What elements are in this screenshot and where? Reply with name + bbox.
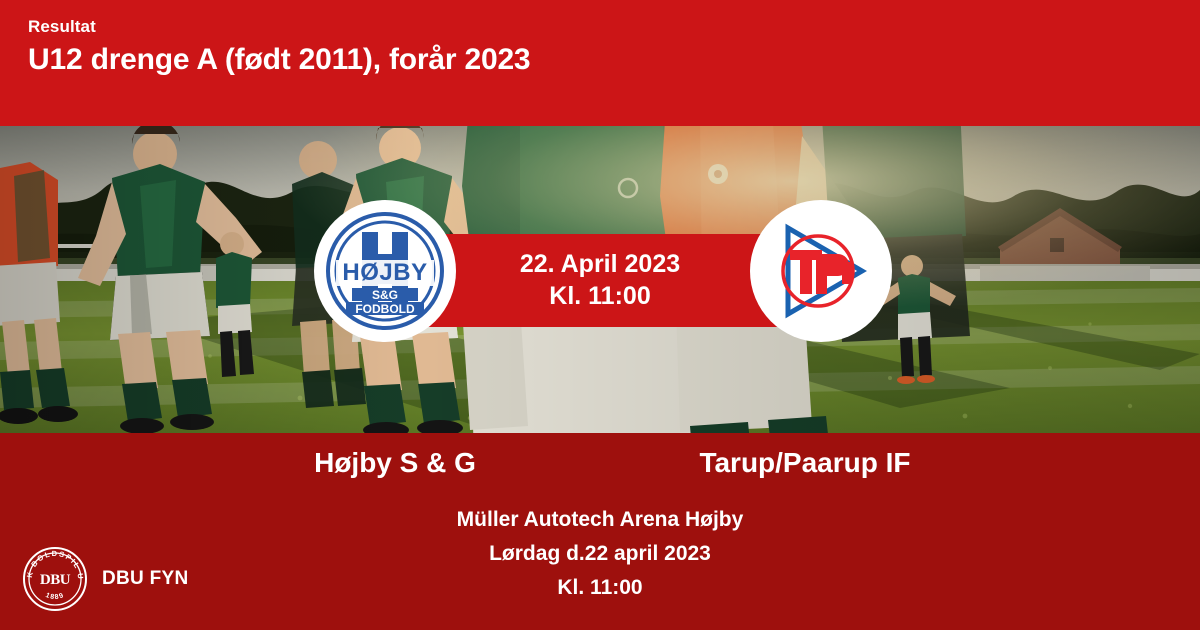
crest-text-hojby: HØJBY [342,259,427,286]
poster-header: Resultat U12 drenge A (født 2011), forår… [0,0,1200,126]
page-title: U12 drenge A (født 2011), forår 2023 [28,43,1200,78]
away-team-name: Tarup/Paarup IF [655,447,955,479]
svg-text:DBU: DBU [40,572,71,588]
dbu-seal-icon: DANSK BOLDSPIL UNION 1889 DBU [22,546,88,612]
dbu-fyn-logo: DANSK BOLDSPIL UNION 1889 DBU DBU FYN [22,546,189,612]
away-team-crest [750,200,892,342]
team-names-row: Højby S & G Tarup/Paarup IF [0,447,1200,479]
crest-text-fodbold: FODBOLD [355,302,415,316]
svg-text:1889: 1889 [44,592,65,601]
dbu-fyn-label: DBU FYN [102,568,189,590]
home-team-name: Højby S & G [245,447,545,479]
match-time: Kl. 11:00 [549,281,650,312]
header-kicker: Resultat [28,18,1200,37]
result-poster: Resultat U12 drenge A (født 2011), forår… [0,0,1200,630]
venue-name: Müller Autotech Arena Højby [0,503,1200,537]
match-date: 22. April 2023 [520,249,680,280]
crest-text-sg: S&G [372,288,398,302]
home-team-crest: HØJBY S&G FODBOLD [314,200,456,342]
